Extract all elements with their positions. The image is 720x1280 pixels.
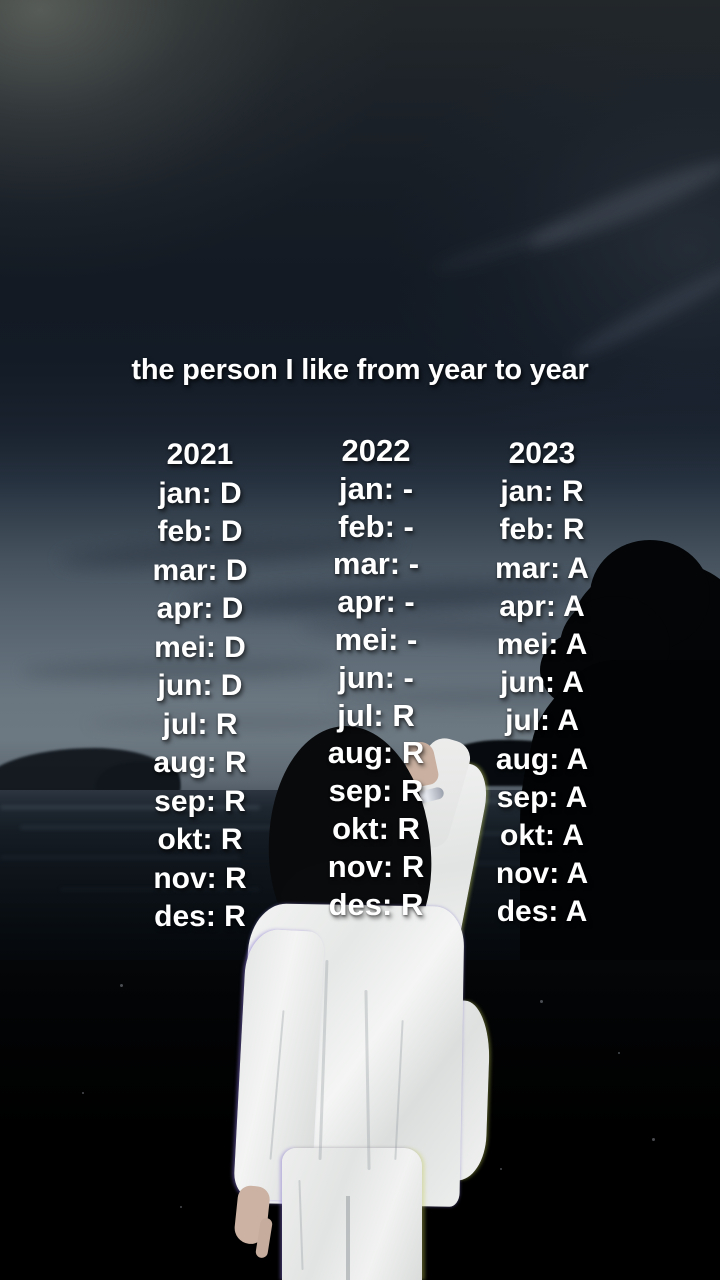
text-overlay: the person I like from year to year 2021… <box>0 0 720 1280</box>
month-row-apr: apr: - <box>296 583 456 621</box>
month-row-mar: mar: - <box>296 545 456 583</box>
month-row-feb: feb: R <box>462 511 622 549</box>
month-row-apr: apr: A <box>462 588 622 626</box>
month-row-jun: jun: - <box>296 659 456 697</box>
month-row-nov: nov: R <box>120 860 280 899</box>
month-row-jan: jan: R <box>462 473 622 511</box>
video-frame: the person I like from year to year 2021… <box>0 0 720 1280</box>
year-heading-2022: 2022 <box>296 432 456 470</box>
month-row-nov: nov: R <box>296 848 456 886</box>
month-row-nov: nov: A <box>462 855 622 893</box>
month-row-mei: mei: A <box>462 626 622 664</box>
month-row-jul: jul: A <box>462 702 622 740</box>
month-row-mei: mei: - <box>296 621 456 659</box>
month-row-jan: jan: D <box>120 475 280 514</box>
month-row-des: des: A <box>462 893 622 931</box>
month-row-okt: okt: R <box>296 810 456 848</box>
month-row-apr: apr: D <box>120 590 280 629</box>
caption-title: the person I like from year to year <box>0 354 720 387</box>
month-row-jun: jun: D <box>120 667 280 706</box>
month-row-mei: mei: D <box>120 629 280 668</box>
year-heading-2023: 2023 <box>462 435 622 473</box>
month-row-aug: aug: R <box>296 734 456 772</box>
month-row-mar: mar: A <box>462 550 622 588</box>
month-row-des: des: R <box>296 886 456 924</box>
month-row-okt: okt: A <box>462 817 622 855</box>
year-heading-2021: 2021 <box>120 436 280 475</box>
month-row-feb: feb: D <box>120 513 280 552</box>
year-column-2021: 2021 jan: D feb: D mar: D apr: D mei: D … <box>120 436 280 937</box>
month-row-jul: jul: R <box>120 706 280 745</box>
month-row-des: des: R <box>120 898 280 937</box>
month-row-feb: feb: - <box>296 508 456 546</box>
month-row-sep: sep: R <box>120 783 280 822</box>
month-row-mar: mar: D <box>120 552 280 591</box>
month-row-aug: aug: A <box>462 741 622 779</box>
month-row-sep: sep: A <box>462 779 622 817</box>
month-row-okt: okt: R <box>120 821 280 860</box>
month-row-sep: sep: R <box>296 772 456 810</box>
year-column-2022: 2022 jan: - feb: - mar: - apr: - mei: - … <box>296 432 456 923</box>
year-column-2023: 2023 jan: R feb: R mar: A apr: A mei: A … <box>462 435 622 932</box>
month-row-jun: jun: A <box>462 664 622 702</box>
month-row-aug: aug: R <box>120 744 280 783</box>
month-row-jan: jan: - <box>296 470 456 508</box>
month-row-jul: jul: R <box>296 697 456 735</box>
